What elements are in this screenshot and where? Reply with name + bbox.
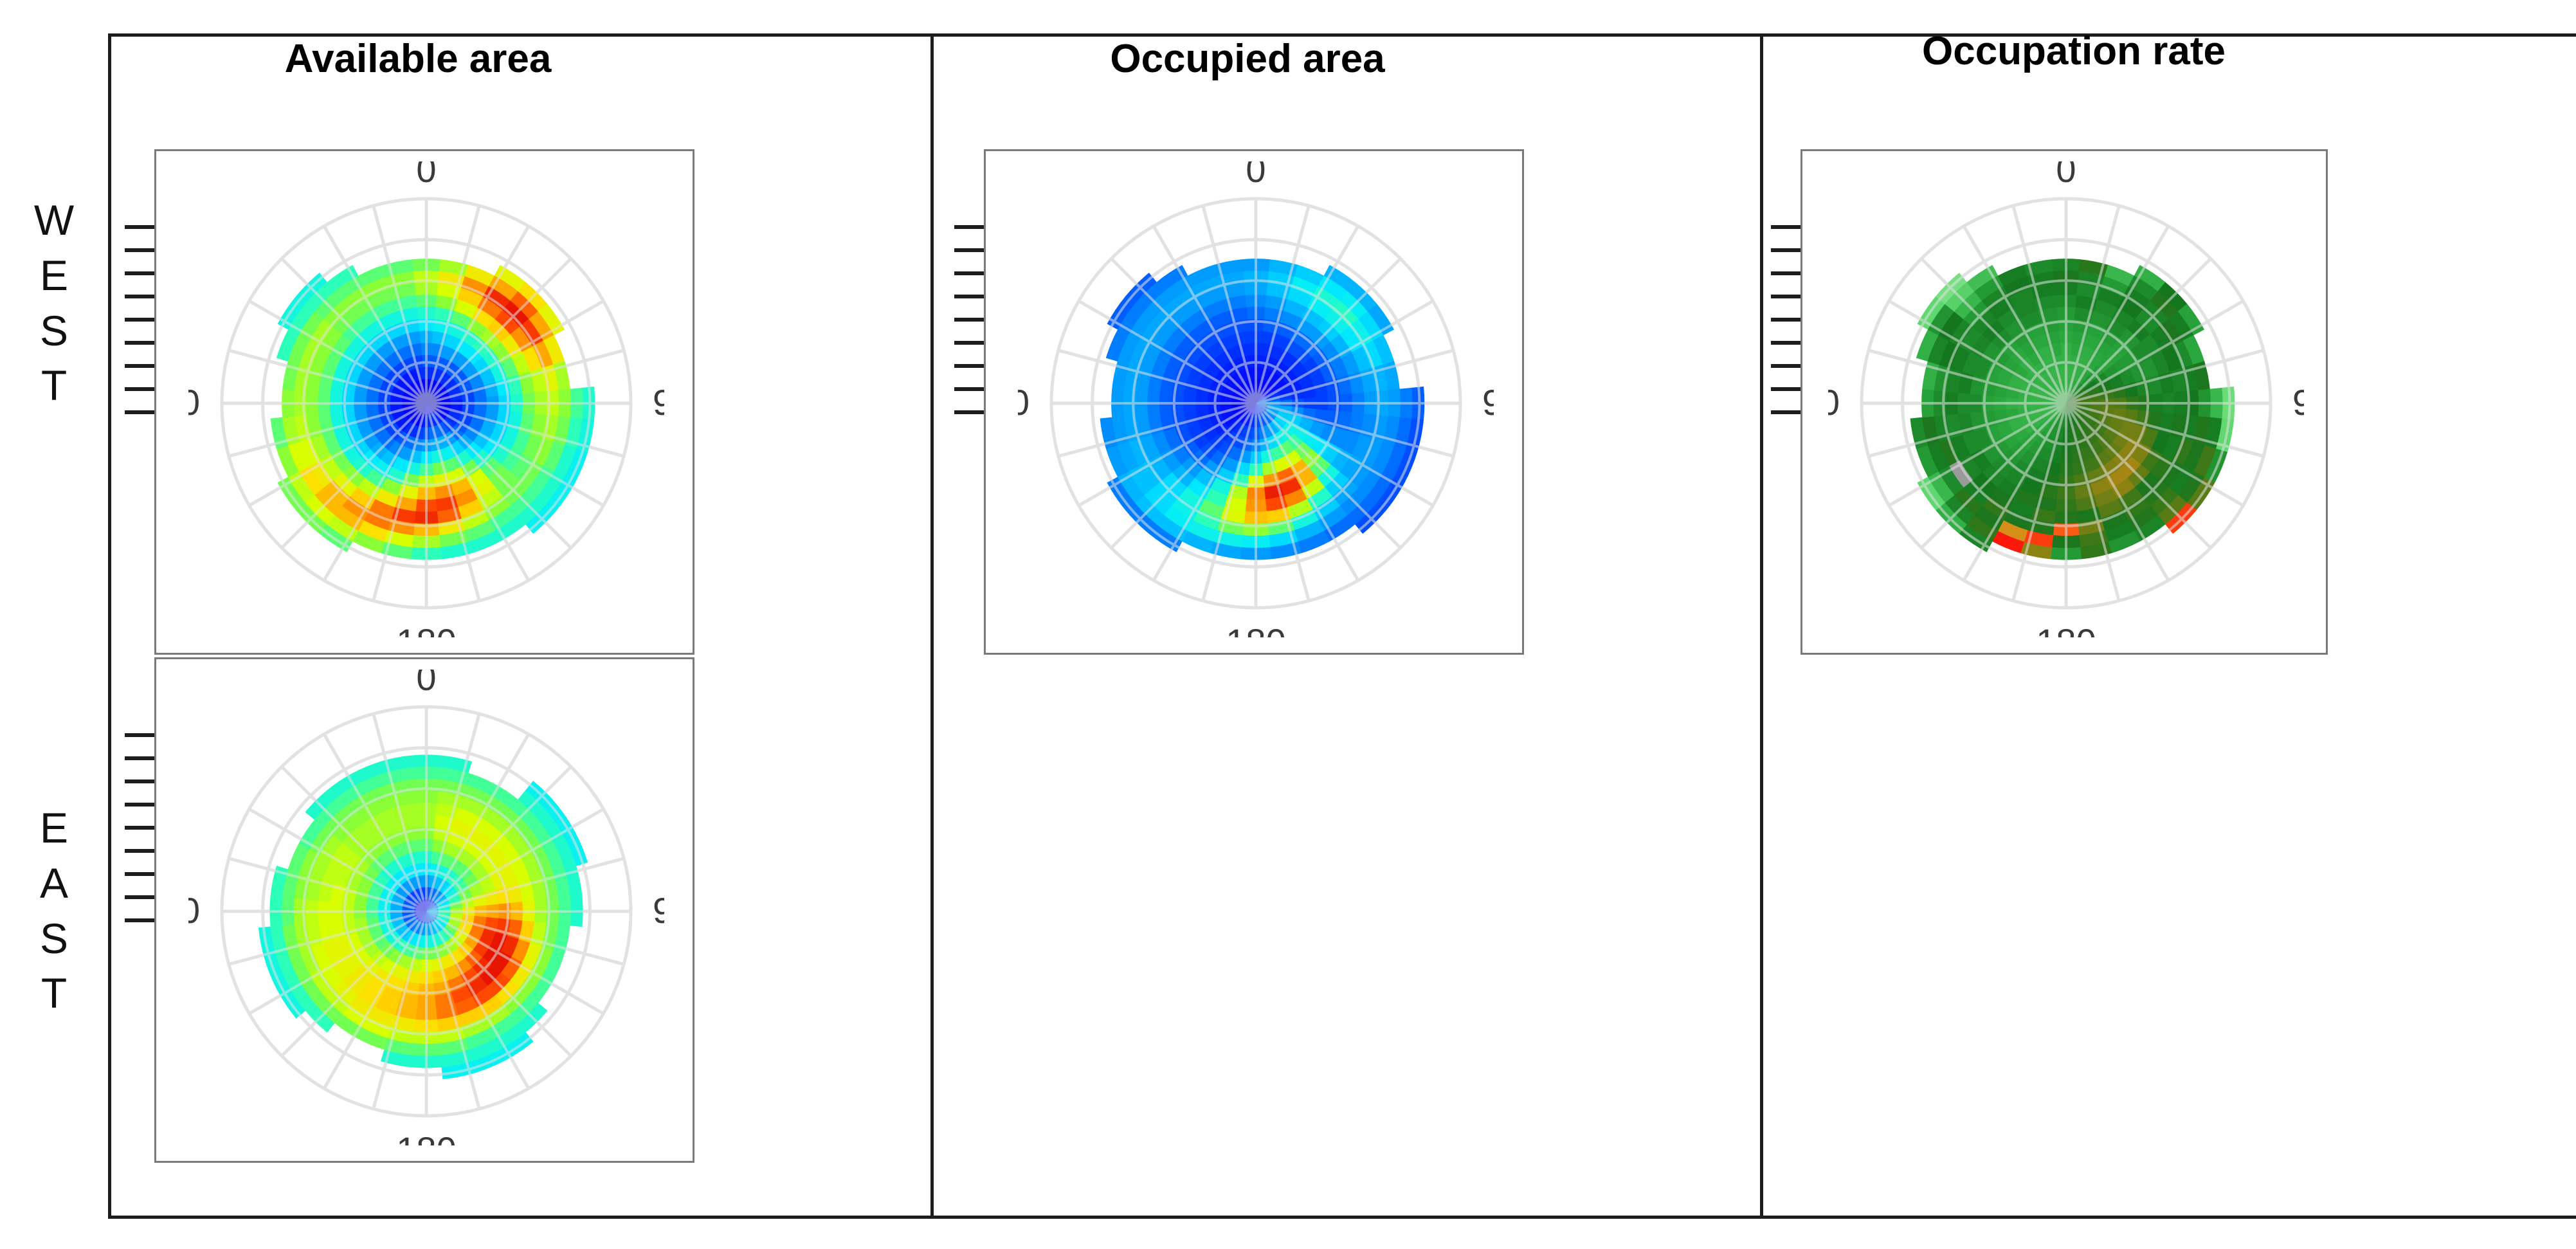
- axis-tick: [954, 341, 984, 345]
- row-label-west: WEST: [0, 193, 108, 414]
- axis-tick: [125, 318, 154, 322]
- axis-tick: [1771, 295, 1800, 298]
- column-divider-2: [1760, 33, 1763, 1219]
- axis-tick: [1771, 387, 1800, 391]
- axis-tick: [1771, 225, 1800, 229]
- angle-tick-label-0: 0: [1246, 161, 1265, 190]
- angle-tick-label-90: 90: [2292, 382, 2304, 423]
- angle-tick-label-90: 90: [653, 382, 664, 423]
- axis-tick: [954, 318, 984, 322]
- row-label-letter: S: [0, 911, 108, 967]
- panel-title-available-area: Available area: [154, 36, 682, 82]
- figure-root: WEST EAST Available area Occupied area O…: [0, 0, 2576, 1249]
- angle-tick-label-270: 270: [1018, 382, 1029, 423]
- angle-tick-label-0: 0: [416, 670, 436, 698]
- panel-title-occupied-area: Occupied area: [984, 36, 1511, 82]
- axis-tick: [954, 225, 984, 229]
- polar-panel-occupied-area-west[interactable]: 090180270: [984, 149, 1524, 655]
- angle-tick-label-0: 0: [2056, 161, 2076, 190]
- polar-plot-occupation-rate-west: 090180270: [1828, 161, 2304, 637]
- axis-tick: [1771, 271, 1800, 275]
- row-label-letter: W: [0, 193, 108, 248]
- axis-tick: [125, 341, 154, 345]
- polar-panel-available-area-west[interactable]: 090180270: [154, 149, 694, 655]
- angle-tick-label-0: 0: [416, 161, 436, 190]
- axis-tick: [125, 895, 154, 899]
- axis-tick: [1771, 341, 1800, 345]
- polar-plot-occupied-area-west: 090180270: [1018, 161, 1494, 637]
- polar-grid-foreground: [1051, 199, 1460, 608]
- angle-tick-label-270: 270: [188, 890, 200, 931]
- angle-tick-label-270: 270: [1828, 382, 1840, 423]
- polar-grid-foreground: [1862, 199, 2271, 608]
- axis-tick: [125, 756, 154, 760]
- axis-tick: [125, 733, 154, 737]
- axis-tick: [954, 295, 984, 298]
- row-label-letter: A: [0, 856, 108, 911]
- polar-grid-foreground: [222, 199, 631, 608]
- column-divider-1: [930, 33, 934, 1219]
- axis-tick: [954, 248, 984, 252]
- polar-panel-available-area-east[interactable]: 090180270: [154, 657, 694, 1163]
- axis-tick: [954, 410, 984, 414]
- row-label-letter: S: [0, 304, 108, 359]
- row-label-letter: E: [0, 248, 108, 304]
- row-label-letter: T: [0, 358, 108, 414]
- axis-tick: [125, 248, 154, 252]
- angle-tick-label-180: 180: [396, 621, 456, 637]
- axis-tick: [1771, 248, 1800, 252]
- axis-tick-marks: [1771, 225, 1800, 412]
- panel-title-occupation-rate: Occupation rate: [1800, 28, 2347, 74]
- axis-tick-marks: [954, 225, 984, 412]
- axis-tick: [1771, 318, 1800, 322]
- axis-tick: [125, 225, 154, 229]
- axis-tick: [125, 387, 154, 391]
- angle-tick-label-90: 90: [1482, 382, 1494, 423]
- polar-plot-available-area-west: 090180270: [188, 161, 664, 637]
- axis-tick: [125, 872, 154, 876]
- axis-tick: [125, 826, 154, 830]
- angle-tick-label-270: 270: [188, 382, 200, 423]
- axis-tick: [125, 918, 154, 922]
- angle-tick-label-180: 180: [1226, 621, 1285, 637]
- angle-tick-label-180: 180: [396, 1129, 456, 1145]
- row-label-east: EAST: [0, 801, 108, 1021]
- axis-tick: [954, 387, 984, 391]
- axis-tick: [1771, 410, 1800, 414]
- axis-tick: [125, 779, 154, 783]
- angle-tick-label-180: 180: [2036, 621, 2096, 637]
- axis-tick: [954, 271, 984, 275]
- polar-panel-occupation-rate-west[interactable]: 090180270: [1800, 149, 2328, 655]
- axis-tick: [125, 271, 154, 275]
- axis-tick: [125, 364, 154, 368]
- axis-tick: [954, 364, 984, 368]
- axis-tick: [125, 295, 154, 298]
- row-label-letter: E: [0, 801, 108, 856]
- polar-grid-foreground: [222, 707, 631, 1116]
- axis-tick-marks: [125, 225, 154, 412]
- polar-plot-available-area-east: 090180270: [188, 670, 664, 1145]
- axis-tick: [125, 849, 154, 853]
- axis-tick: [125, 803, 154, 807]
- axis-tick: [125, 410, 154, 414]
- axis-tick-marks: [125, 733, 154, 920]
- angle-tick-label-90: 90: [653, 890, 664, 931]
- axis-tick: [1771, 364, 1800, 368]
- row-label-letter: T: [0, 966, 108, 1021]
